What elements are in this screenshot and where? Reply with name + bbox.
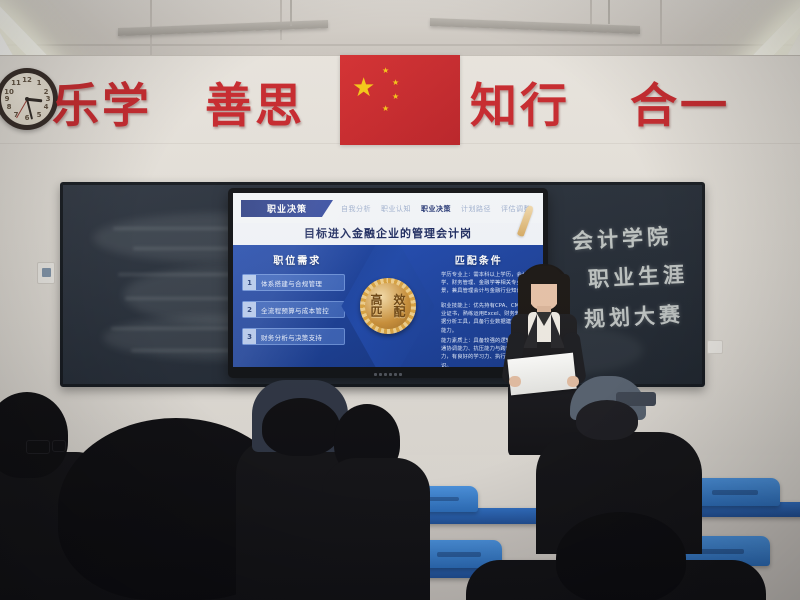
classroom-scene: 12 1 2 3 4 5 6 7 8 9 10 11 ★ ★ ★ ★ ★ 乐学 … <box>0 0 800 600</box>
flag-small-star: ★ <box>392 79 399 87</box>
clock-number: 11 <box>11 78 21 88</box>
audience-bottom-right <box>556 512 686 600</box>
slide-header: 职业决策 自我分析 职业认知 职业决策 计划路径 评估调整 <box>233 193 543 223</box>
requirement-number: 3 <box>243 329 256 344</box>
chalk-line: 职业生涯 <box>587 258 688 293</box>
requirement-item: 3 财务分析与决策支持 <box>242 328 345 345</box>
slide-nav-tab-active: 职业决策 <box>421 204 451 214</box>
china-flag: ★ ★ ★ ★ ★ <box>340 55 460 145</box>
flag-small-star: ★ <box>382 67 389 75</box>
ceiling-seam <box>660 0 662 46</box>
requirement-text: 体系搭建与合规管理 <box>256 278 322 288</box>
slide-title: 目标进入金融企业的管理会计岗 <box>233 225 543 241</box>
slide-nav-tab: 自我分析 <box>341 204 371 214</box>
requirement-number: 2 <box>243 302 256 317</box>
chair[interactable] <box>690 478 780 506</box>
badge-char: 配 <box>393 306 405 318</box>
slide-section-chip: 职业决策 <box>241 200 333 217</box>
ceiling-seam <box>590 0 592 26</box>
match-badge-icon: 高 效 匹 配 <box>360 278 416 334</box>
job-requirements-panel: 职位需求 1 体系搭建与合规管理 2 全流程预算与成本管控 3 财务分析与决策支… <box>233 245 376 367</box>
clock-hour-hand <box>27 98 42 102</box>
flag-big-star: ★ <box>352 75 375 101</box>
clock-number: 12 <box>22 75 32 85</box>
badge-char: 匹 <box>370 306 382 318</box>
slide-nav-tab: 职业认知 <box>381 204 411 214</box>
wall-slogan-word: 善思 <box>205 78 305 136</box>
wall-slogan-word: 合一 <box>630 78 730 136</box>
audience-right-back-body <box>322 458 430 600</box>
ceiling-edge <box>0 44 800 46</box>
ceiling-hanger <box>608 0 610 24</box>
chalk-line: 会计学院 <box>571 220 672 255</box>
wall-socket <box>707 340 723 354</box>
requirement-item: 2 全流程预算与成本管控 <box>242 301 345 318</box>
display-control-buttons[interactable] <box>374 373 402 376</box>
clock-face: 12 1 2 3 4 5 6 7 8 9 10 11 <box>1 73 53 125</box>
clock-center-pin <box>25 97 29 101</box>
ceiling-hanger <box>290 0 292 26</box>
wall-slogan-word: 乐学 <box>52 78 152 136</box>
requirement-text: 财务分析与决策支持 <box>256 332 322 342</box>
requirement-number: 1 <box>243 275 256 290</box>
chalk-line: 规划大赛 <box>583 298 684 333</box>
slide-nav-tab: 计划路径 <box>461 204 491 214</box>
flag-small-star: ★ <box>392 93 399 101</box>
clock-number: 10 <box>4 87 14 97</box>
presenter-hand <box>509 376 521 387</box>
ceiling <box>0 0 800 62</box>
audience-head <box>262 398 340 456</box>
light-switch[interactable] <box>37 262 55 284</box>
presenter-hand <box>567 376 579 387</box>
glasses-icon <box>26 440 50 454</box>
flag-small-star: ★ <box>382 105 389 113</box>
clock-number: 5 <box>34 110 44 120</box>
slide-nav-tabs: 自我分析 职业认知 职业决策 计划路径 评估调整 <box>341 202 537 216</box>
panel-heading: 职位需求 <box>233 252 376 267</box>
wall-slogan-word: 知行 <box>470 78 570 136</box>
glasses-icon <box>52 440 66 452</box>
requirement-text: 全流程预算与成本管控 <box>256 305 329 315</box>
requirement-item: 1 体系搭建与合规管理 <box>242 274 345 291</box>
badge-inner: 高 效 匹 配 <box>365 283 411 329</box>
ceiling-seam <box>280 0 282 40</box>
presenter-script-paper <box>507 353 576 396</box>
